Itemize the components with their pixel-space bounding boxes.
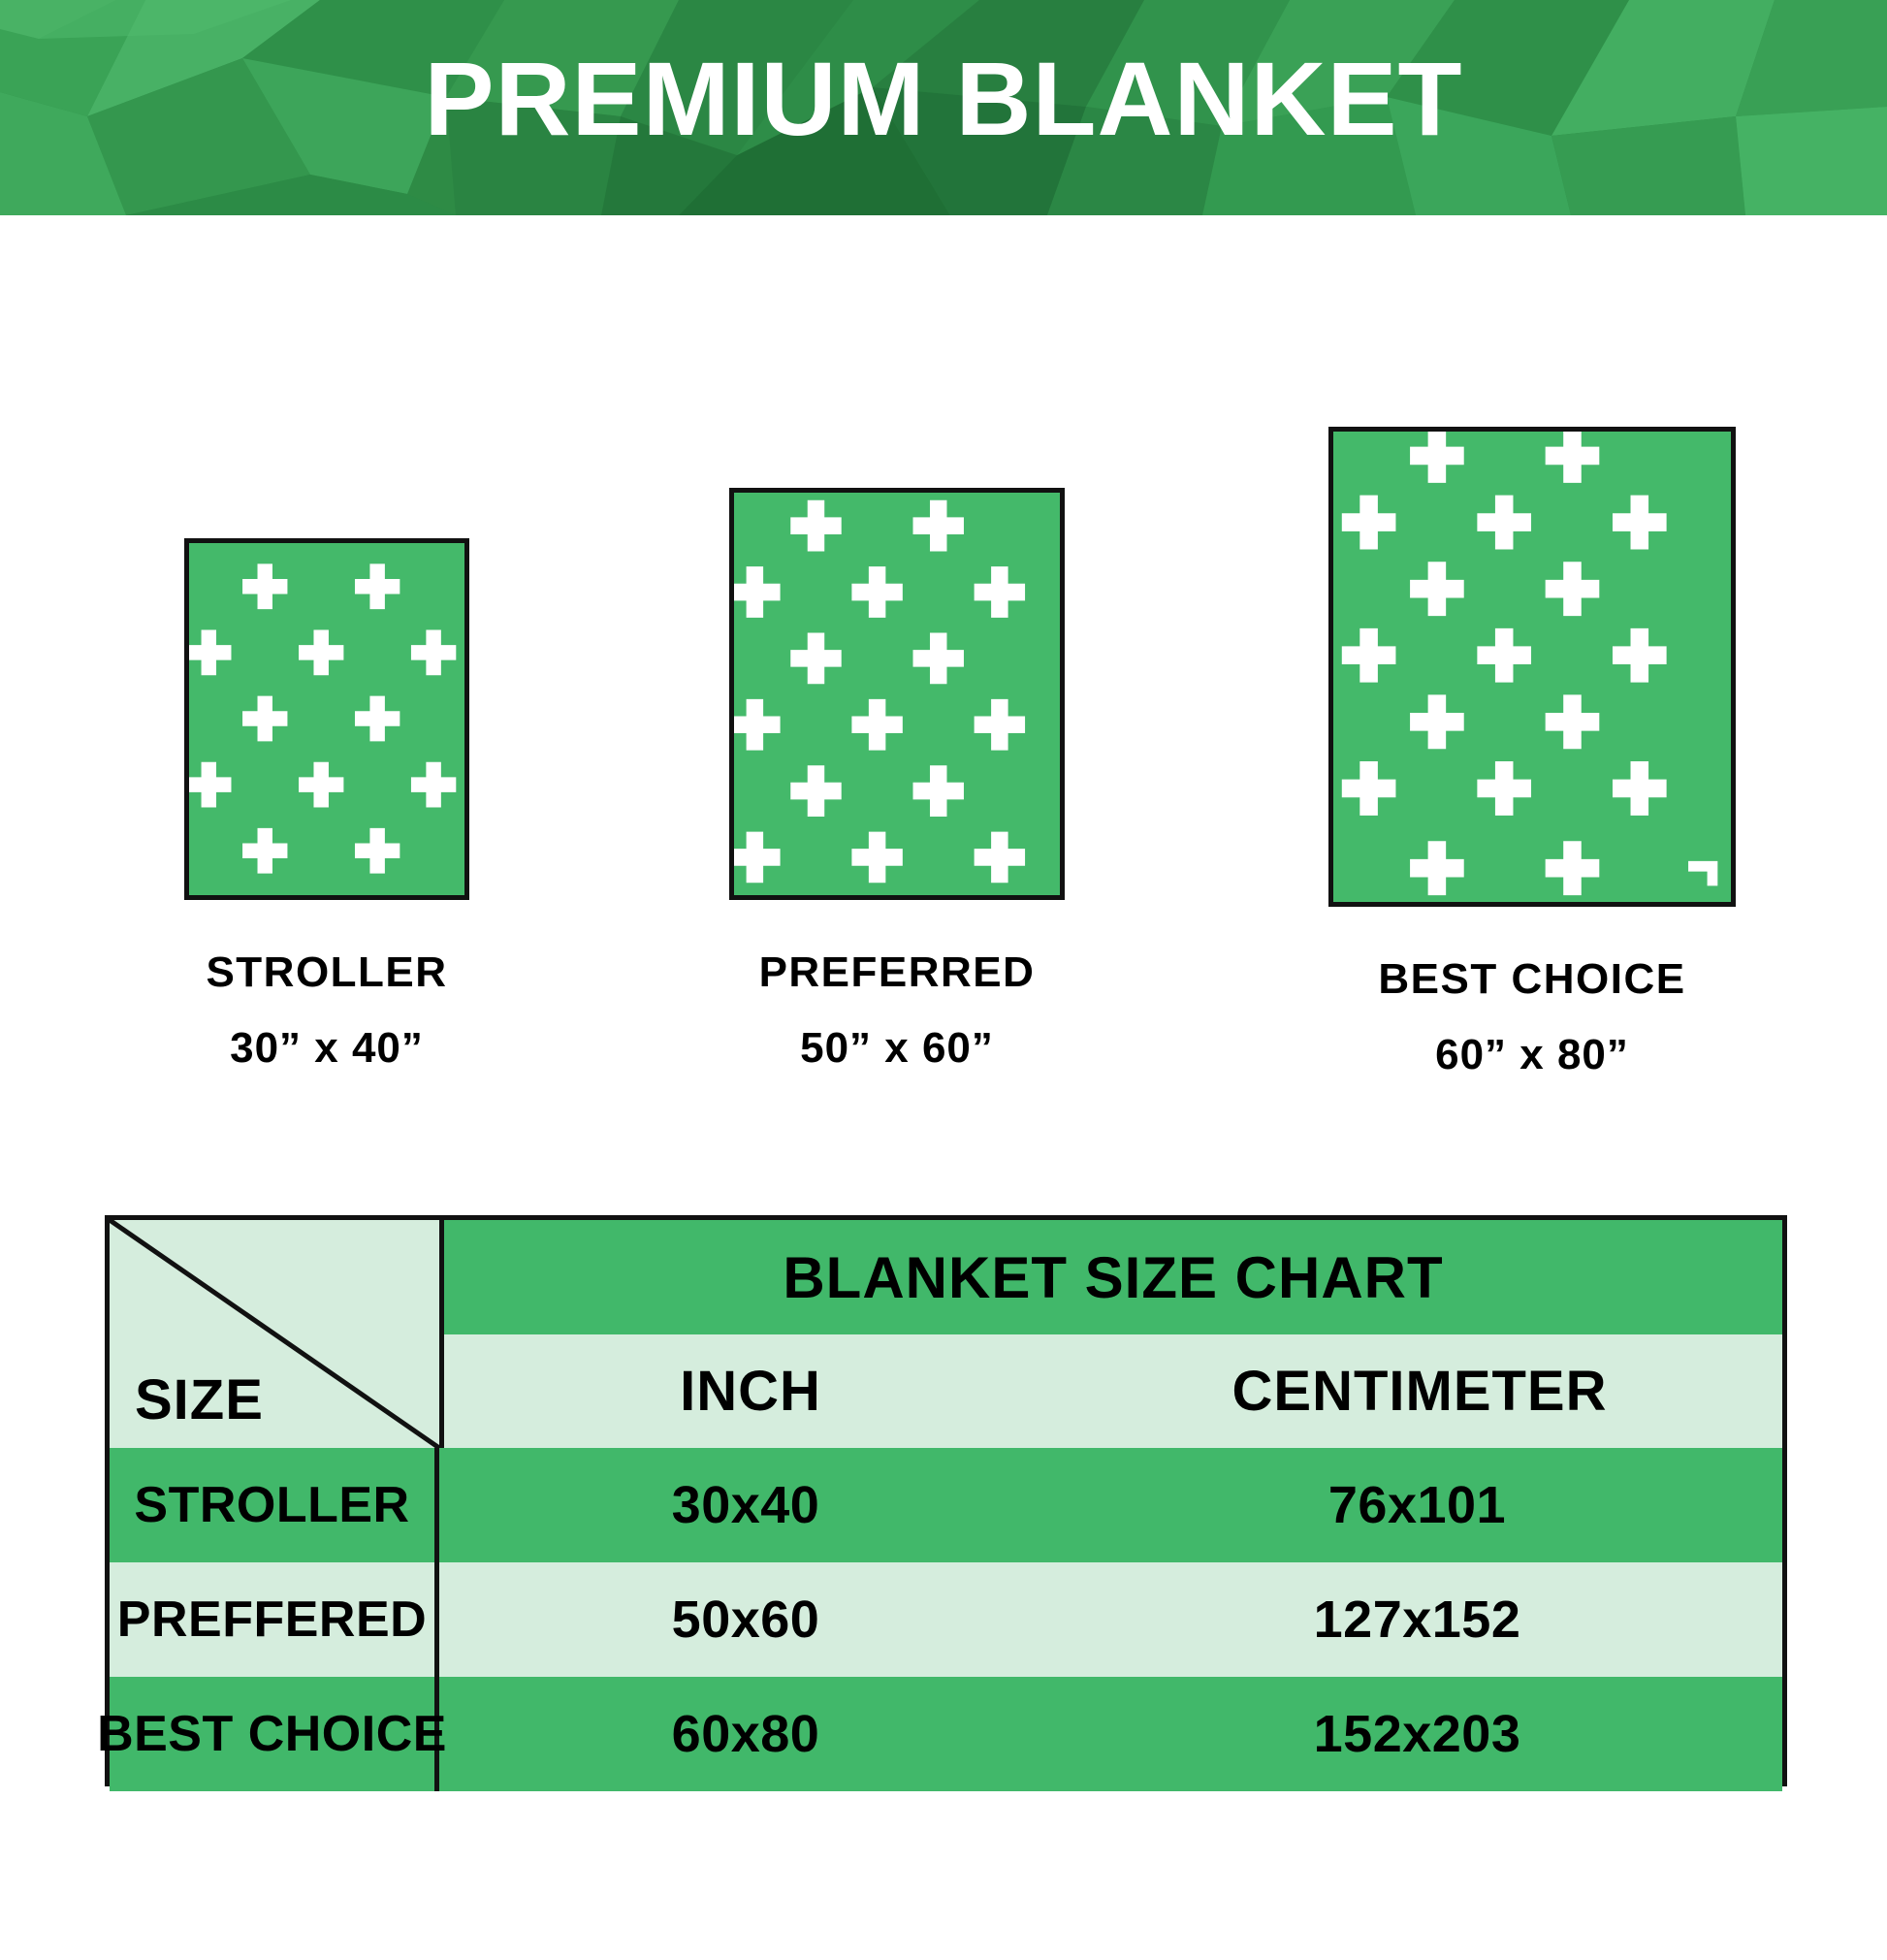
blanket-swatch-preferred: [729, 488, 1065, 900]
header-banner: PREMIUM BLANKET: [0, 0, 1887, 215]
cell-inch: 50x60: [439, 1562, 1052, 1677]
cell-centimeter: 76x101: [1052, 1448, 1782, 1562]
table-corner-cell: SIZE: [110, 1220, 444, 1448]
swatch-group-preferred: PREFERRED 50” x 60”: [729, 488, 1065, 1073]
table-row: PREFFERED 50x60 127x152: [110, 1562, 1782, 1677]
column-header-inch: INCH: [444, 1334, 1057, 1448]
swatch-label-dimensions: 50” x 60”: [729, 1024, 1065, 1073]
table-row: BEST CHOICE 60x80 152x203: [110, 1677, 1782, 1791]
cell-centimeter: 127x152: [1052, 1562, 1782, 1677]
cell-size: STROLLER: [110, 1448, 439, 1562]
swatch-label-name: STROLLER: [184, 948, 469, 997]
cell-inch: 30x40: [439, 1448, 1052, 1562]
page-title: PREMIUM BLANKET: [0, 0, 1887, 215]
table-row: STROLLER 30x40 76x101: [110, 1448, 1782, 1562]
table-corner-label: SIZE: [135, 1367, 264, 1432]
swatch-group-stroller: STROLLER 30” x 40”: [184, 538, 469, 1073]
cross-pattern-graphic: [1333, 432, 1731, 902]
blanket-swatch-section: STROLLER 30” x 40”: [0, 215, 1887, 1185]
table-header-block: SIZE BLANKET SIZE CHART INCH CENTIMETER: [110, 1220, 1782, 1448]
blanket-swatch-best-choice: [1328, 427, 1736, 907]
swatch-label-dimensions: 60” x 80”: [1328, 1031, 1736, 1079]
cell-inch: 60x80: [439, 1677, 1052, 1791]
blanket-size-chart-table: SIZE BLANKET SIZE CHART INCH CENTIMETER …: [105, 1215, 1787, 1786]
swatch-label-name: BEST CHOICE: [1328, 955, 1736, 1004]
cell-size: BEST CHOICE: [110, 1677, 439, 1791]
table-header-right: BLANKET SIZE CHART INCH CENTIMETER: [444, 1220, 1782, 1448]
cross-pattern-graphic: [189, 543, 464, 895]
table-title: BLANKET SIZE CHART: [444, 1220, 1782, 1334]
table-unit-header-row: INCH CENTIMETER: [444, 1334, 1782, 1448]
blanket-swatch-stroller: [184, 538, 469, 900]
cell-size: PREFFERED: [110, 1562, 439, 1677]
swatch-group-best-choice: BEST CHOICE 60” x 80”: [1328, 427, 1736, 1079]
column-header-centimeter: CENTIMETER: [1057, 1334, 1782, 1448]
cell-centimeter: 152x203: [1052, 1677, 1782, 1791]
swatch-label-name: PREFERRED: [729, 948, 1065, 997]
swatch-label-dimensions: 30” x 40”: [184, 1024, 469, 1073]
cross-pattern-graphic: [734, 493, 1060, 895]
